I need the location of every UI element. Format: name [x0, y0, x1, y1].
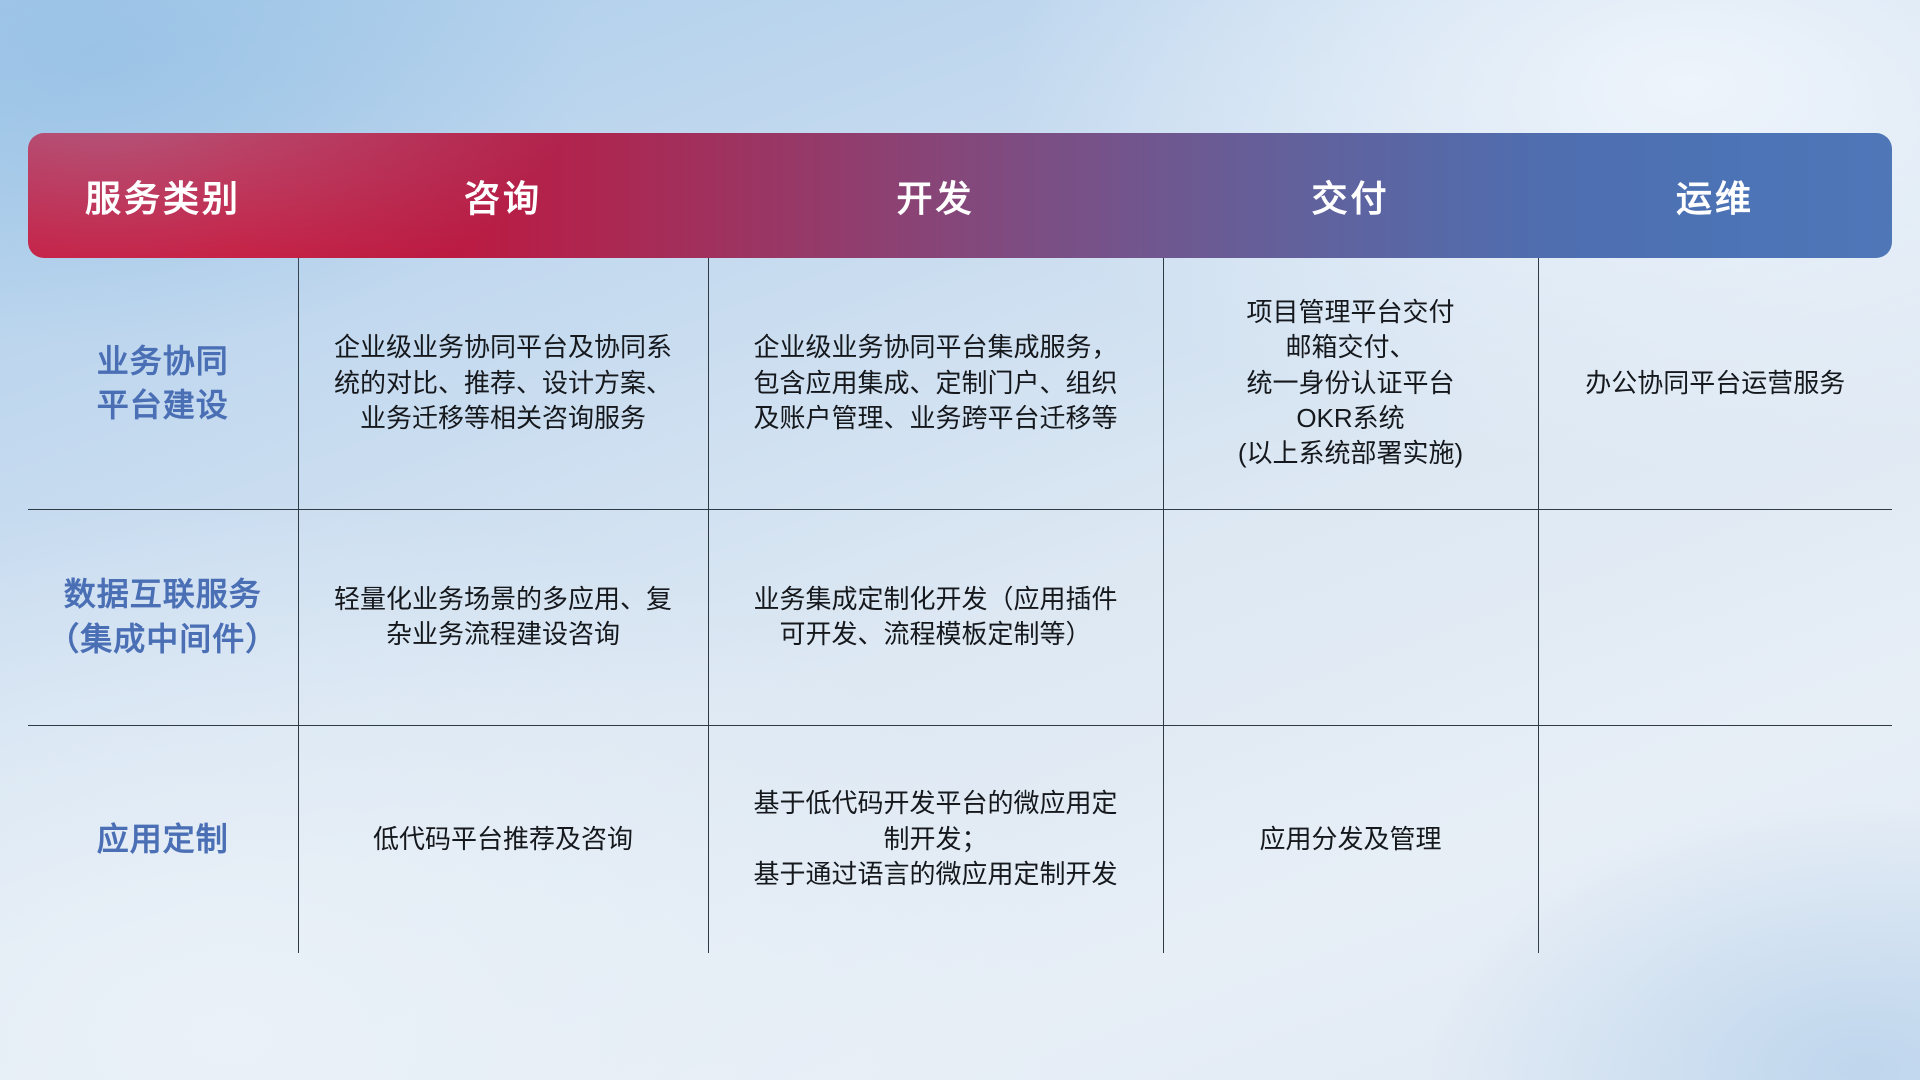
cell-text-line: 统一身份认证平台: [1182, 366, 1520, 401]
header-label-development: 开发: [896, 178, 974, 219]
cell-text-line: OKR系统: [1182, 401, 1520, 436]
cell-text-line: 包含应用集成、定制门户、组织: [727, 366, 1145, 401]
cell-text-line: 及账户管理、业务跨平台迁移等: [727, 401, 1145, 436]
cell-consulting-row2: 轻量化业务场景的多应用、复杂业务流程建设咨询: [298, 509, 708, 725]
header-cell-delivery: 交付: [1163, 133, 1538, 258]
cell-text-line: 应用定制: [46, 817, 280, 862]
cell-development-row1: 企业级业务协同平台集成服务，包含应用集成、定制门户、组织及账户管理、业务跨平台迁…: [708, 258, 1163, 509]
header-label-consulting: 咨询: [464, 178, 542, 219]
cell-development-row2: 业务集成定制化开发（应用插件可开发、流程模板定制等）: [708, 509, 1163, 725]
cell-operations-row3: [1538, 725, 1892, 953]
cell-text-line: （集成中间件）: [46, 617, 280, 662]
cell-text-line: 应用分发及管理: [1182, 822, 1520, 857]
cell-text-line: 企业级业务协同平台集成服务，: [727, 330, 1145, 365]
cell-text-line: 基于低代码开发平台的微应用定: [727, 786, 1145, 821]
header-label-category: 服务类别: [85, 178, 241, 219]
cell-text-line: 轻量化业务场景的多应用、复: [317, 582, 690, 617]
cell-operations-row1: 办公协同平台运营服务: [1538, 258, 1892, 509]
cell-text-line: 企业级业务协同平台及协同系: [317, 330, 690, 365]
cell-text-line: 项目管理平台交付: [1182, 295, 1520, 330]
table-row: 数据互联服务（集成中间件） 轻量化业务场景的多应用、复杂业务流程建设咨询 业务集…: [28, 509, 1892, 725]
cell-text-line: (以上系统部署实施): [1182, 436, 1520, 471]
cell-text-line: 制开发；: [727, 822, 1145, 857]
row-label-app-customization: 应用定制: [28, 725, 298, 953]
cell-delivery-row1: 项目管理平台交付邮箱交付、统一身份认证平台OKR系统(以上系统部署实施): [1163, 258, 1538, 509]
header-label-delivery: 交付: [1311, 178, 1389, 219]
table-header-row: 服务类别 咨询 开发 交付 运维: [28, 133, 1892, 258]
cell-text-line: 业务迁移等相关咨询服务: [317, 401, 690, 436]
cell-delivery-row3: 应用分发及管理: [1163, 725, 1538, 953]
cell-development-row3: 基于低代码开发平台的微应用定制开发；基于通过语言的微应用定制开发: [708, 725, 1163, 953]
cell-text-line: 平台建设: [46, 383, 280, 428]
table-body: 业务协同平台建设 企业级业务协同平台及协同系统的对比、推荐、设计方案、业务迁移等…: [28, 258, 1892, 953]
cell-consulting-row3: 低代码平台推荐及咨询: [298, 725, 708, 953]
header-cell-category: 服务类别: [28, 133, 298, 258]
cell-text-line: 基于通过语言的微应用定制开发: [727, 857, 1145, 892]
cell-text-line: 杂业务流程建设咨询: [317, 617, 690, 652]
cell-consulting-row1: 企业级业务协同平台及协同系统的对比、推荐、设计方案、业务迁移等相关咨询服务: [298, 258, 708, 509]
header-cell-operations: 运维: [1538, 133, 1892, 258]
cell-text-line: 统的对比、推荐、设计方案、: [317, 366, 690, 401]
header-cell-consulting: 咨询: [298, 133, 708, 258]
cell-text-line: 业务协同: [46, 339, 280, 384]
table-row: 业务协同平台建设 企业级业务协同平台及协同系统的对比、推荐、设计方案、业务迁移等…: [28, 258, 1892, 509]
table-header: 服务类别 咨询 开发 交付 运维: [28, 133, 1892, 258]
row-label-business-collaboration: 业务协同平台建设: [28, 258, 298, 509]
cell-operations-row2: [1538, 509, 1892, 725]
cell-text-line: 可开发、流程模板定制等）: [727, 617, 1145, 652]
cell-text-line: 业务集成定制化开发（应用插件: [727, 582, 1145, 617]
service-matrix-table-wrapper: 服务类别 咨询 开发 交付 运维: [28, 133, 1892, 953]
slide-canvas: 服务类别 咨询 开发 交付 运维: [0, 0, 1920, 1080]
cell-text-line: 数据互联服务: [46, 572, 280, 617]
table-row: 应用定制 低代码平台推荐及咨询 基于低代码开发平台的微应用定制开发；基于通过语言…: [28, 725, 1892, 953]
cell-text-line: 低代码平台推荐及咨询: [317, 822, 690, 857]
service-matrix-table: 服务类别 咨询 开发 交付 运维: [28, 133, 1892, 953]
cell-text-line: 办公协同平台运营服务: [1557, 366, 1875, 401]
header-label-operations: 运维: [1676, 178, 1754, 219]
cell-delivery-row2: [1163, 509, 1538, 725]
row-label-data-interconnect: 数据互联服务（集成中间件）: [28, 509, 298, 725]
cell-text-line: 邮箱交付、: [1182, 330, 1520, 365]
header-cell-development: 开发: [708, 133, 1163, 258]
